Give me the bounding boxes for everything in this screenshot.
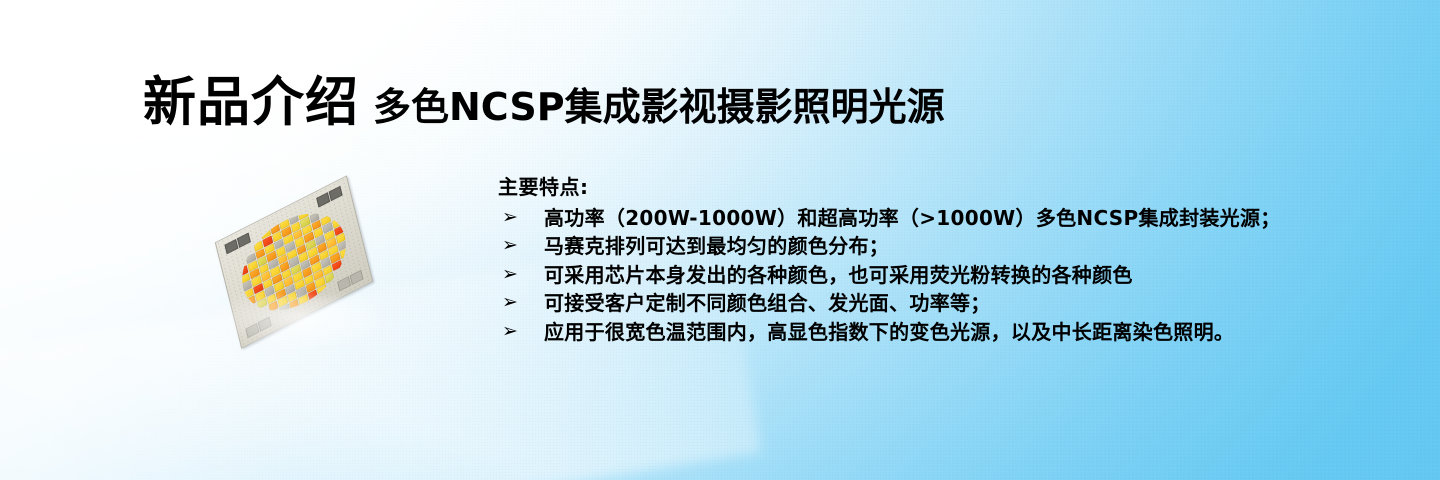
arrow-bullet-icon: ➢ — [498, 204, 544, 231]
arrow-bullet-icon: ➢ — [498, 232, 544, 259]
product-image-led-module — [196, 176, 396, 352]
arrow-bullet-icon: ➢ — [498, 318, 544, 345]
presentation-slide: 新品介绍 多色NCSP集成影视摄影照明光源 主要特点: ➢高功率（200W-10… — [0, 0, 1440, 480]
arrow-bullet-icon: ➢ — [498, 289, 544, 316]
feature-list-item: ➢应用于很宽色温范围内，高显色指数下的变色光源，以及中长距离染色照明。 — [498, 318, 1398, 346]
features-block: 主要特点: ➢高功率（200W-1000W）和超高功率（>1000W）多色NCS… — [498, 176, 1398, 346]
feature-text: 可采用芯片本身发出的各种颜色，也可采用荧光粉转换的各种颜色 — [544, 261, 1398, 289]
headline-subtitle: 多色NCSP集成影视摄影照明光源 — [373, 88, 945, 126]
feature-text: 应用于很宽色温范围内，高显色指数下的变色光源，以及中长距离染色照明。 — [544, 318, 1398, 346]
feature-list-item: ➢可采用芯片本身发出的各种颜色，也可采用荧光粉转换的各种颜色 — [498, 261, 1398, 289]
feature-list-item: ➢高功率（200W-1000W）和超高功率（>1000W）多色NCSP集成封装光… — [498, 204, 1398, 232]
features-list: ➢高功率（200W-1000W）和超高功率（>1000W）多色NCSP集成封装光… — [498, 204, 1398, 346]
feature-text: 高功率（200W-1000W）和超高功率（>1000W）多色NCSP集成封装光源… — [544, 204, 1398, 232]
features-heading: 主要特点: — [498, 176, 1398, 199]
feature-text: 马赛克排列可达到最均匀的颜色分布； — [544, 232, 1398, 260]
arrow-bullet-icon: ➢ — [498, 261, 544, 288]
feature-text: 可接受客户定制不同颜色组合、发光面、功率等； — [544, 289, 1398, 317]
headline-main-title: 新品介绍 — [143, 76, 359, 129]
feature-list-item: ➢可接受客户定制不同颜色组合、发光面、功率等； — [498, 289, 1398, 317]
product-image-glow — [206, 296, 396, 352]
slide-headline: 新品介绍 多色NCSP集成影视摄影照明光源 — [143, 76, 945, 129]
product-image-stage — [196, 176, 396, 352]
feature-list-item: ➢马赛克排列可达到最均匀的颜色分布； — [498, 232, 1398, 260]
